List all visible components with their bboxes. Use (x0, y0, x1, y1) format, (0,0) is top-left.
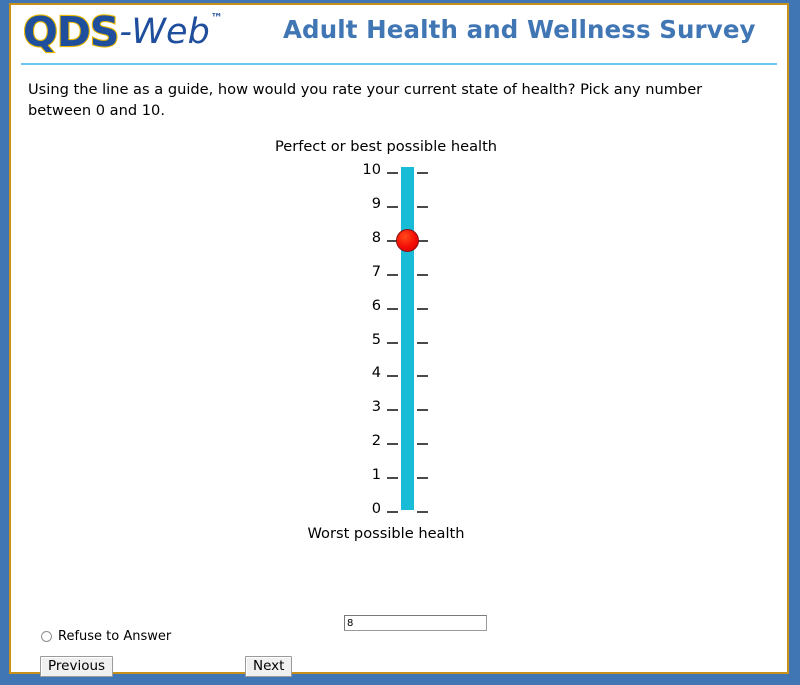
vas-tick-label: 7 (341, 265, 381, 280)
vas-tick-label: 10 (341, 163, 381, 178)
vas-tick-label: 9 (341, 197, 381, 212)
vas-tick-label: 6 (341, 299, 381, 314)
vas-tick-mark-right (417, 375, 428, 377)
vas-tick-mark-left (387, 342, 398, 344)
vas-value-input[interactable] (344, 615, 487, 631)
header-divider (21, 63, 777, 65)
vas-tick-row[interactable]: 4 (367, 375, 447, 377)
vas-tick-mark-left (387, 409, 398, 411)
vas-tick-label: 1 (341, 468, 381, 483)
vas-tick-mark-left (387, 308, 398, 310)
vas-slider-marker[interactable] (396, 229, 419, 252)
qds-web-logo: QDS-Web™ (23, 7, 222, 57)
previous-button[interactable]: Previous (40, 656, 113, 677)
vas-tick-mark-right (417, 443, 428, 445)
refuse-to-answer-row[interactable]: Refuse to Answer (41, 629, 171, 644)
vas-tick-mark-left (387, 172, 398, 174)
visual-analog-scale[interactable]: Perfect or best possible health 10987654… (11, 67, 787, 587)
vas-tick-row[interactable]: 1 (367, 477, 447, 479)
refuse-to-answer-label: Refuse to Answer (58, 629, 171, 644)
vas-tick-row[interactable]: 2 (367, 443, 447, 445)
vas-tick-row[interactable]: 0 (367, 511, 447, 513)
trademark-icon: ™ (211, 11, 223, 25)
vas-tick-label: 3 (341, 400, 381, 415)
vas-tick-label: 4 (341, 366, 381, 381)
logo-qds-text: QDS (23, 12, 118, 53)
vas-bottom-anchor-label: Worst possible health (0, 525, 774, 542)
vas-tick-mark-right (417, 511, 428, 513)
header-bar: QDS-Web™ Adult Health and Wellness Surve… (11, 5, 787, 61)
vas-tick-mark-right (417, 274, 428, 276)
vas-tick-mark-right (417, 308, 428, 310)
vas-tick-mark-left (387, 206, 398, 208)
vas-tick-row[interactable]: 9 (367, 206, 447, 208)
vas-tick-mark-left (387, 375, 398, 377)
vas-tick-row[interactable]: 3 (367, 409, 447, 411)
survey-page-card: QDS-Web™ Adult Health and Wellness Surve… (9, 3, 789, 674)
vas-tick-label: 8 (341, 231, 381, 246)
vas-tick-mark-left (387, 511, 398, 513)
page-title: Adult Health and Wellness Survey (283, 15, 756, 44)
vas-top-anchor-label: Perfect or best possible health (0, 138, 774, 155)
vas-tick-mark-right (417, 409, 428, 411)
vas-tick-label: 5 (341, 333, 381, 348)
vas-tick-mark-right (417, 477, 428, 479)
application-frame: QDS-Web™ Adult Health and Wellness Surve… (0, 0, 800, 685)
vas-bar (401, 167, 414, 510)
vas-tick-row[interactable]: 6 (367, 308, 447, 310)
content-area: Using the line as a guide, how would you… (11, 67, 787, 672)
vas-tick-row[interactable]: 7 (367, 274, 447, 276)
vas-tick-mark-left (387, 443, 398, 445)
vas-tick-label: 2 (341, 434, 381, 449)
logo-web-text: -Web (119, 15, 209, 50)
next-button[interactable]: Next (245, 656, 292, 677)
vas-tick-label: 0 (341, 502, 381, 517)
vas-tick-mark-right (417, 172, 428, 174)
refuse-to-answer-radio[interactable] (41, 631, 52, 642)
vas-scale-track[interactable]: 109876543210 (367, 164, 447, 514)
vas-tick-row[interactable]: 5 (367, 342, 447, 344)
vas-tick-mark-left (387, 274, 398, 276)
vas-tick-mark-right (417, 342, 428, 344)
vas-tick-mark-left (387, 477, 398, 479)
vas-tick-row[interactable]: 10 (367, 172, 447, 174)
vas-tick-mark-right (417, 206, 428, 208)
